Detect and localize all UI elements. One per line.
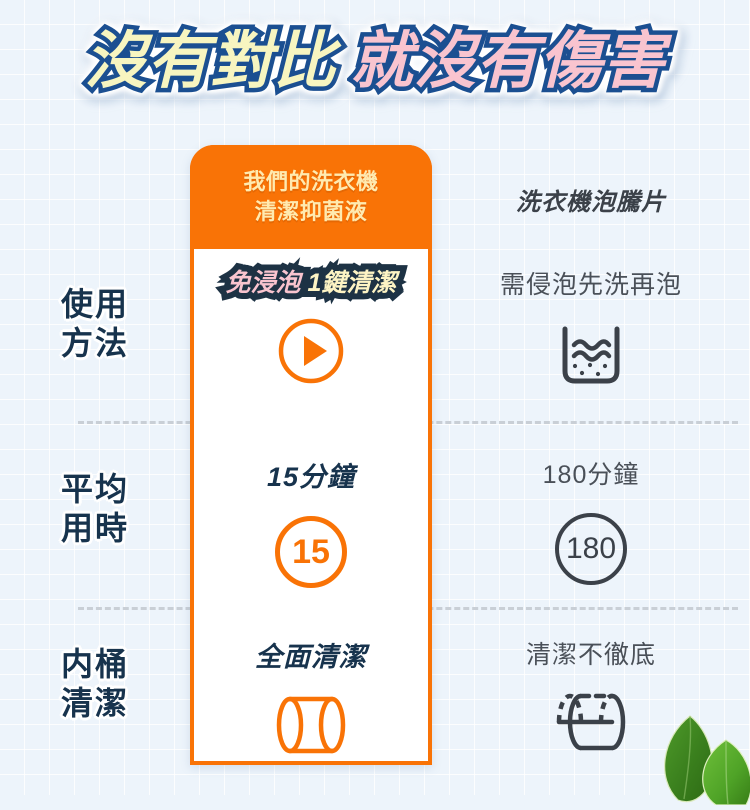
cell-rival-usage: 需侵泡先洗再泡 — [432, 265, 750, 387]
rival-usage-text: 需侵泡先洗再泡 — [432, 265, 750, 301]
row-label-average-time: 平均 用時 — [0, 470, 190, 548]
row-label-drum-clean-line2: 清潔 — [0, 684, 190, 723]
cell-ours-usage: 免浸泡 1鍵清潔 — [190, 263, 432, 385]
rival-time-value: 180 — [555, 513, 627, 585]
comparison-table: 我們的洗衣機 清潔抑菌液 洗衣機泡騰片 使用 方法 平均 用時 内桶 清潔 免浸… — [0, 145, 750, 770]
row-label-average-time-line2: 用時 — [0, 509, 190, 548]
badge-one-key-clean: 1鍵清潔 — [308, 263, 397, 299]
usage-badges: 免浸泡 1鍵清潔 — [190, 263, 432, 299]
our-product-header-line1: 我們的洗衣機 — [243, 167, 378, 197]
cell-ours-drum: 全面清潔 — [190, 635, 432, 756]
row-label-usage-line1: 使用 — [0, 285, 190, 324]
play-circle-icon — [190, 317, 432, 385]
page-title: 沒有對比就沒有傷害 — [0, 26, 750, 97]
cell-ours-time: 15分鐘 15 — [190, 455, 432, 588]
rival-time-text: 180分鐘 — [432, 455, 750, 491]
row-label-usage-line2: 方法 — [0, 324, 190, 363]
our-product-header-line2: 清潔抑菌液 — [255, 197, 368, 227]
leaf-icon — [636, 700, 750, 805]
soaking-basin-icon — [432, 325, 750, 387]
page-title-part-b: 就沒有傷害 — [351, 26, 666, 97]
row-label-drum-clean: 内桶 清潔 — [0, 645, 190, 723]
time-circle-icon: 180 — [432, 513, 750, 585]
cell-rival-time: 180分鐘 180 — [432, 455, 750, 585]
badge-no-soak: 免浸泡 — [226, 263, 301, 299]
ours-drum-text: 全面清潔 — [190, 635, 432, 674]
time-circle-icon: 15 — [190, 516, 432, 588]
row-label-usage: 使用 方法 — [0, 285, 190, 363]
ours-time-text: 15分鐘 — [190, 455, 432, 494]
row-label-average-time-line1: 平均 — [0, 470, 190, 509]
rival-drum-text: 清潔不徹底 — [432, 635, 750, 671]
row-label-drum-clean-line1: 内桶 — [0, 645, 190, 684]
page-title-part-a: 沒有對比 — [84, 26, 336, 97]
drum-full-clean-icon — [190, 694, 432, 756]
our-product-header: 我們的洗衣機 清潔抑菌液 — [190, 145, 432, 249]
ours-time-value: 15 — [275, 516, 347, 588]
rival-product-header: 洗衣機泡騰片 — [432, 171, 750, 227]
